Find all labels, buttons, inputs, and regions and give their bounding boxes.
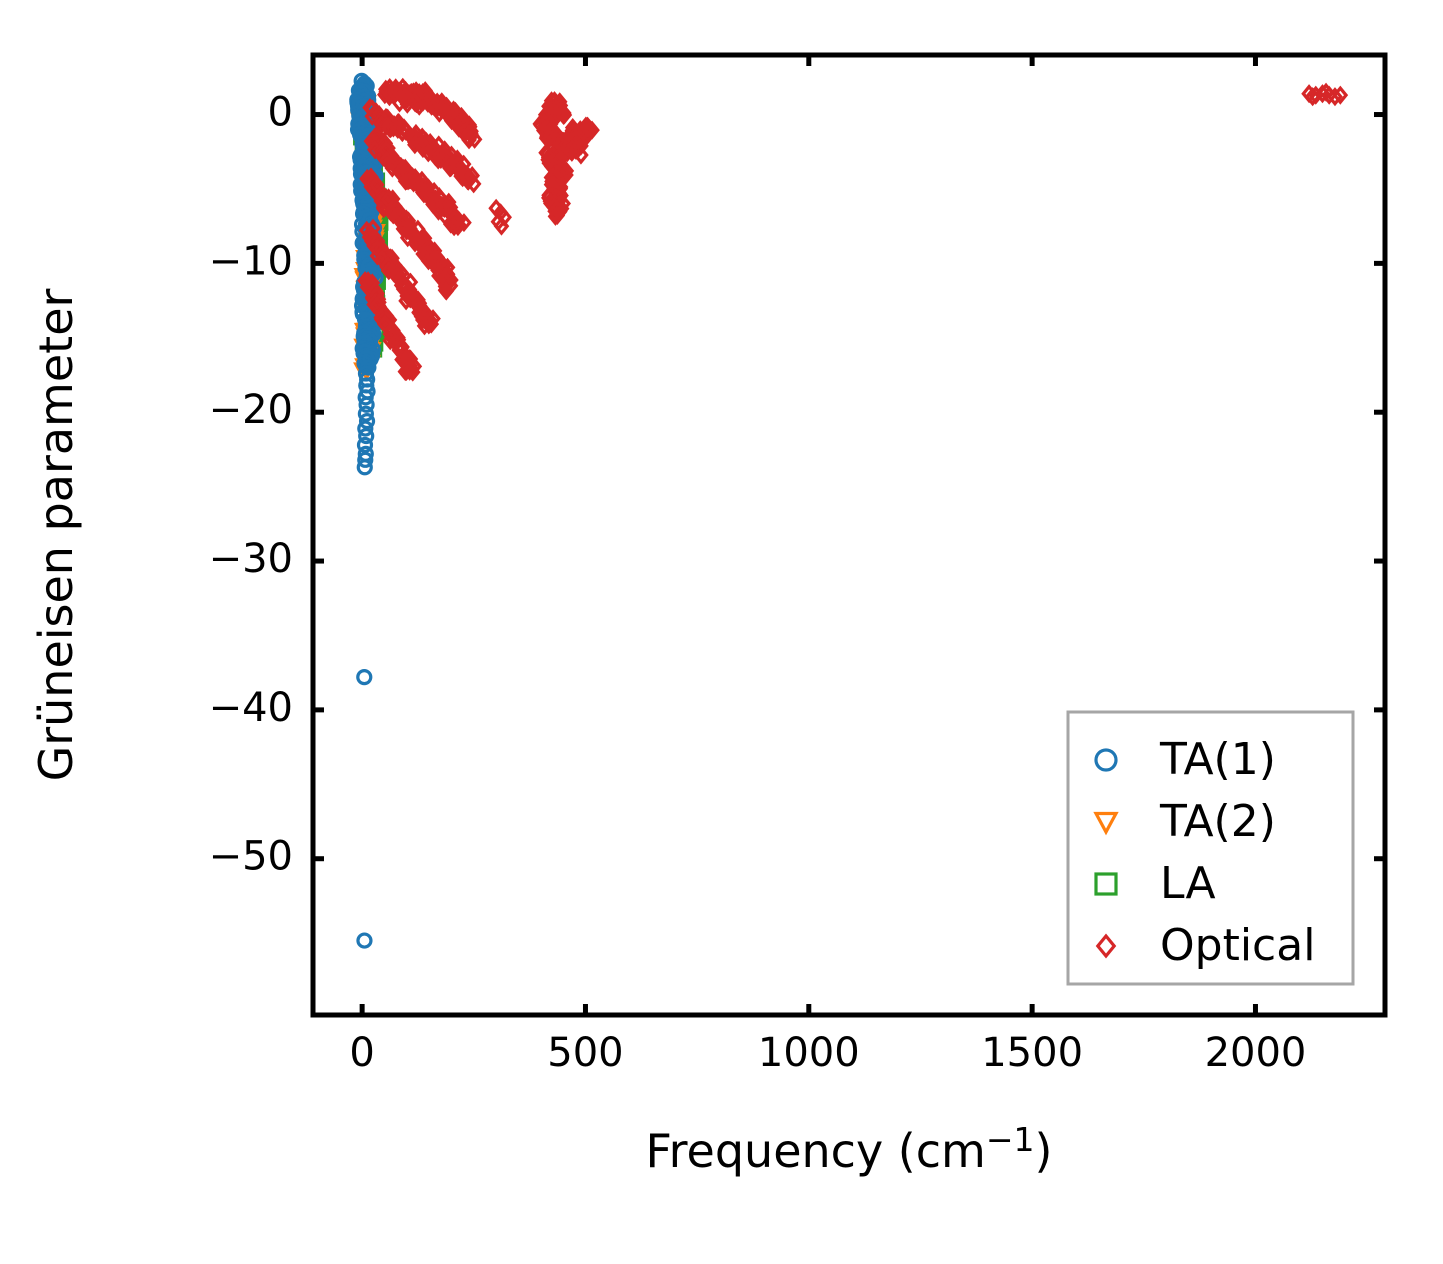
x-tick-label: 1000 bbox=[758, 1030, 860, 1076]
scatter-plot: 05001000150020000−10−20−30−40−50Frequenc… bbox=[0, 0, 1443, 1264]
y-tick-label: −40 bbox=[209, 685, 293, 731]
y-tick-label: −20 bbox=[209, 387, 293, 433]
x-tick-label: 500 bbox=[547, 1030, 623, 1076]
series-optical bbox=[359, 80, 1346, 379]
legend-label: TA(2) bbox=[1159, 796, 1276, 847]
y-tick-label: −50 bbox=[209, 834, 293, 880]
legend-label: Optical bbox=[1160, 920, 1315, 971]
legend-label: LA bbox=[1160, 858, 1216, 909]
x-tick-label: 0 bbox=[349, 1030, 374, 1076]
y-axis-label: Grüneisen parameter bbox=[29, 288, 83, 781]
legend-label: TA(1) bbox=[1159, 734, 1276, 785]
y-tick-label: −30 bbox=[209, 536, 293, 582]
x-tick-label: 1500 bbox=[981, 1030, 1083, 1076]
x-tick-label: 2000 bbox=[1205, 1030, 1307, 1076]
data-point-circle bbox=[358, 934, 371, 947]
y-tick-label: 0 bbox=[268, 90, 293, 136]
figure-canvas: 05001000150020000−10−20−30−40−50Frequenc… bbox=[0, 0, 1443, 1264]
x-axis-label: Frequency (cm−1) bbox=[646, 1120, 1053, 1178]
data-point-circle bbox=[358, 671, 371, 684]
y-tick-label: −10 bbox=[209, 238, 293, 284]
